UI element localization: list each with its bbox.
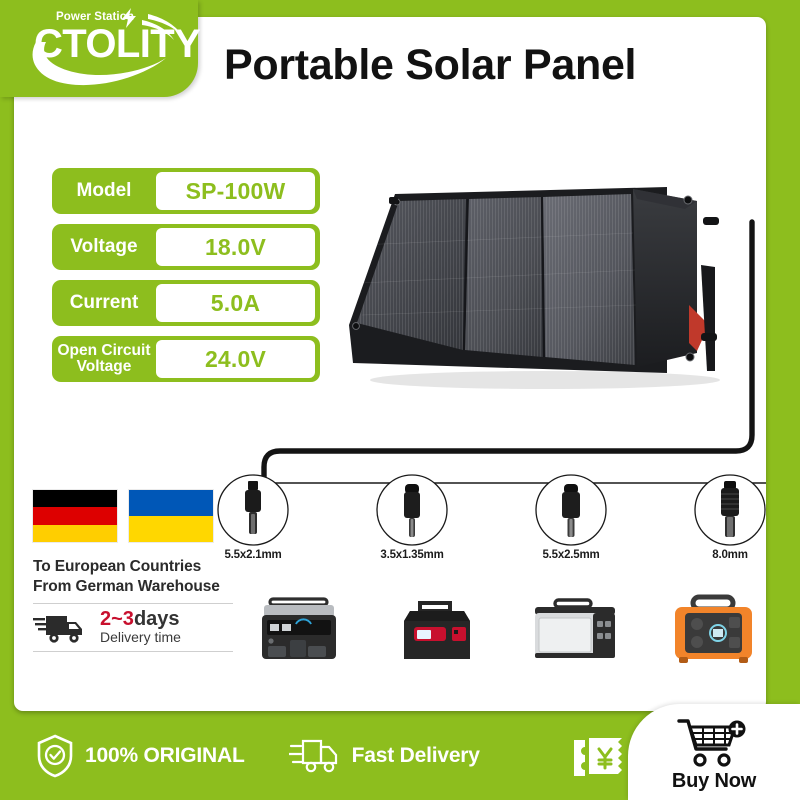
- feature-coupon: [572, 732, 634, 780]
- delivery-time-label: Delivery time: [100, 630, 181, 645]
- feature-fast-delivery: Fast Delivery: [289, 735, 480, 777]
- feature-original: 100% ORIGINAL: [36, 734, 245, 778]
- delivery-truck-icon: [33, 609, 91, 645]
- spec-value: 18.0V: [156, 228, 315, 266]
- spec-row-open-circuit-voltage: Open Circuit Voltage 24.0V: [52, 336, 320, 382]
- spec-label: Open Circuit Voltage: [52, 336, 156, 382]
- feature-label: Fast Delivery: [352, 744, 480, 768]
- power-station-orange[interactable]: [661, 591, 766, 667]
- delivery-days-unit: days: [134, 608, 180, 630]
- dc-barrel-jack-icon: [352, 473, 472, 547]
- portable-solar-panel-photo: [345, 175, 765, 400]
- connector-label: 5.5x2.5mm: [511, 549, 631, 561]
- spec-row-voltage: Voltage 18.0V: [52, 224, 320, 270]
- shipping-info-block: To European Countries From German Wareho…: [33, 490, 233, 652]
- dc-barrel-jack-icon: [511, 473, 631, 547]
- buy-now-button[interactable]: Buy Now: [628, 704, 800, 800]
- fast-truck-icon: [289, 735, 341, 777]
- connector-item[interactable]: 8.0mm: [670, 473, 790, 552]
- delivery-days-number: 2~3: [100, 608, 134, 630]
- spec-row-model: Model SP-100W: [52, 168, 320, 214]
- power-station-black-red[interactable]: [384, 591, 489, 667]
- germany-flag: [33, 490, 117, 542]
- advertisement-banner: Power Station CTOLITY Portable Solar Pan…: [0, 0, 800, 800]
- connector-item[interactable]: 3.5x1.35mm: [352, 473, 472, 552]
- spec-label: Voltage: [52, 224, 156, 270]
- brand-name: CTOLITY: [34, 22, 200, 67]
- feature-label: 100% ORIGINAL: [85, 744, 245, 768]
- page-title: Portable Solar Panel: [224, 41, 754, 90]
- spec-value: 24.0V: [156, 340, 315, 378]
- delivery-time-box: 2~3days Delivery time: [33, 603, 233, 652]
- shipping-line-2: From German Warehouse: [33, 578, 233, 596]
- spec-value: 5.0A: [156, 284, 315, 322]
- flag-row: [33, 490, 233, 542]
- brand-logo-tab[interactable]: Power Station CTOLITY: [0, 0, 198, 97]
- shipping-line-1: To European Countries: [33, 558, 233, 576]
- spec-row-current: Current 5.0A: [52, 280, 320, 326]
- connector-label: 3.5x1.35mm: [352, 549, 472, 561]
- coupon-yen-icon: [572, 732, 634, 780]
- spec-value: SP-100W: [156, 172, 315, 210]
- power-station-silver[interactable]: [523, 591, 628, 667]
- connector-options: 5.5x2.1mm 3.5x1.35mm 5.5x2.5mm: [246, 473, 766, 571]
- spec-label: Current: [52, 280, 156, 326]
- dc-barrel-plug-large-icon: [670, 473, 790, 547]
- shield-check-icon: [36, 734, 74, 778]
- power-station-black-silver[interactable]: [246, 591, 351, 667]
- ukraine-flag: [129, 490, 213, 542]
- connector-item[interactable]: 5.5x2.5mm: [511, 473, 631, 552]
- shopping-cart-plus-icon: [677, 717, 751, 769]
- compatible-devices-row: [246, 587, 766, 667]
- specification-table: Model SP-100W Voltage 18.0V Current 5.0A…: [52, 168, 320, 392]
- spec-label: Model: [52, 168, 156, 214]
- buy-now-label: Buy Now: [672, 770, 756, 793]
- connector-label: 8.0mm: [670, 549, 790, 561]
